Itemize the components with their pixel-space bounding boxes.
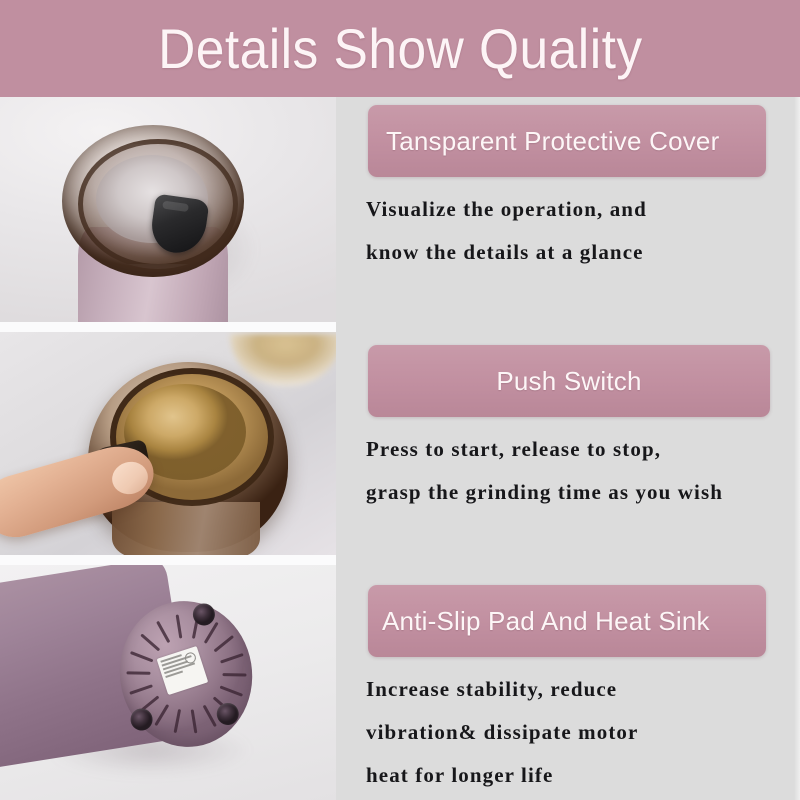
header-banner: Details Show Quality xyxy=(0,0,800,97)
feature-title: Push Switch xyxy=(496,366,641,397)
photo-2-scene xyxy=(0,332,336,555)
feature-block-anti-slip-pad: Anti-Slip Pad And Heat Sink Increase sta… xyxy=(336,585,800,788)
heat-sink-vent xyxy=(175,615,182,639)
page-title: Details Show Quality xyxy=(158,21,643,77)
heat-sink-vent xyxy=(126,671,150,674)
heat-sink-vent xyxy=(190,709,197,733)
feature-block-push-switch: Push Switch Press to start, release to s… xyxy=(336,345,800,505)
photo-transparent-cover xyxy=(0,97,336,322)
description-line: know the details at a glance xyxy=(366,240,800,265)
heat-sink-vent xyxy=(140,634,160,652)
photo-push-switch xyxy=(0,332,336,555)
heat-sink-vent xyxy=(213,635,234,652)
feature-title-pill: Push Switch xyxy=(368,345,770,417)
feature-title-pill: Anti-Slip Pad And Heat Sink xyxy=(368,585,766,657)
spec-label xyxy=(157,646,209,695)
heat-sink-vent xyxy=(202,705,216,727)
heat-sink-vent xyxy=(129,651,152,662)
photo-separator xyxy=(0,555,336,565)
feature-block-transparent-cover: Tansparent Protective Cover Visualize th… xyxy=(336,105,800,265)
heat-sink-vent xyxy=(154,704,169,726)
heat-sink-vent xyxy=(173,709,181,733)
photo-separator xyxy=(0,322,336,332)
description-line: Increase stability, reduce xyxy=(366,677,800,702)
description-line: vibration& dissipate motor xyxy=(366,720,800,745)
product-infographic: Details Show Quality xyxy=(0,0,800,800)
photo-anti-slip-base xyxy=(0,565,336,800)
description-line: Visualize the operation, and xyxy=(366,197,800,222)
photo-1-scene xyxy=(0,97,336,322)
heat-sink-vent xyxy=(219,686,242,697)
feature-description: Increase stability, reduce vibration& di… xyxy=(366,677,800,788)
description-line: grasp the grinding time as you wish xyxy=(366,480,800,505)
description-line: Press to start, release to stop, xyxy=(366,437,800,462)
heat-sink-vent xyxy=(220,653,244,664)
photo-3-scene xyxy=(0,565,336,800)
feature-title-pill: Tansparent Protective Cover xyxy=(368,105,766,177)
feature-title: Anti-Slip Pad And Heat Sink xyxy=(382,606,710,637)
feature-title: Tansparent Protective Cover xyxy=(386,126,719,157)
feature-column: Tansparent Protective Cover Visualize th… xyxy=(336,97,800,800)
heat-sink-vent xyxy=(156,621,170,643)
anti-slip-foot xyxy=(215,701,240,726)
grinder-lower-body xyxy=(112,502,260,555)
description-line: heat for longer life xyxy=(366,763,800,788)
heat-sink-vent xyxy=(222,673,246,676)
heat-sink-vent xyxy=(129,684,153,695)
feature-description: Press to start, release to stop, grasp t… xyxy=(366,437,800,505)
feature-description: Visualize the operation, and know the de… xyxy=(366,197,800,265)
